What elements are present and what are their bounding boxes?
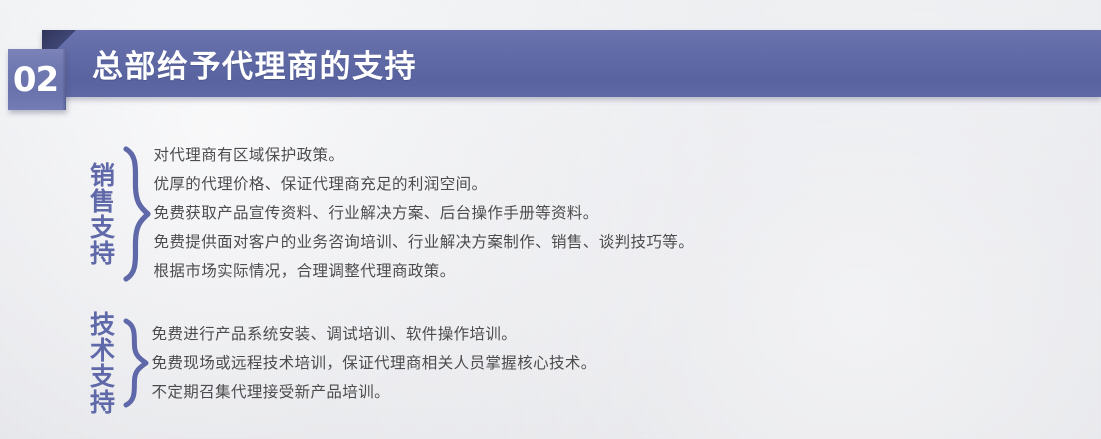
list-item: 免费进行产品系统安装、调试培训、软件操作培训。 [152, 320, 597, 349]
section-lines-sales: 对代理商有区域保护政策。 优厚的代理价格、保证代理商充足的利润空间。 免费获取产… [154, 141, 695, 286]
section-lines-tech: 免费进行产品系统安装、调试培训、软件操作培训。 免费现场或远程技术培训，保证代理… [152, 320, 597, 407]
list-item: 对代理商有区域保护政策。 [154, 141, 695, 170]
page-title: 总部给予代理商的支持 [92, 30, 417, 97]
slide-canvas: 02 总部给予代理商的支持 销售支持 对代理商有区域保护政策。 优厚的代理价格、… [0, 0, 1101, 439]
content-section-sales: 销售支持 对代理商有区域保护政策。 优厚的代理价格、保证代理商充足的利润空间。 … [88, 141, 694, 286]
list-item: 免费提供面对客户的业务咨询培训、行业解决方案制作、销售、谈判技巧等。 [154, 228, 695, 257]
list-item: 根据市场实际情况，合理调整代理商政策。 [154, 257, 695, 286]
curly-brace-icon [118, 317, 150, 409]
section-number-tab: 02 [8, 49, 66, 110]
section-label-sales: 销售支持 [88, 162, 114, 266]
list-item: 免费现场或远程技术培训，保证代理商相关人员掌握核心技术。 [152, 349, 597, 378]
content-section-tech: 技术支持 免费进行产品系统安装、调试培训、软件操作培训。 免费现场或远程技术培训… [88, 311, 597, 415]
section-label-tech: 技术支持 [88, 311, 114, 415]
list-item: 不定期召集代理接受新产品培训。 [152, 378, 597, 407]
section-header-banner: 02 总部给予代理商的支持 [0, 27, 1101, 113]
section-number: 02 [13, 63, 61, 97]
list-item: 优厚的代理价格、保证代理商充足的利润空间。 [154, 170, 695, 199]
curly-brace-icon [118, 145, 152, 283]
list-item: 免费获取产品宣传资料、行业解决方案、后台操作手册等资料。 [154, 199, 695, 228]
